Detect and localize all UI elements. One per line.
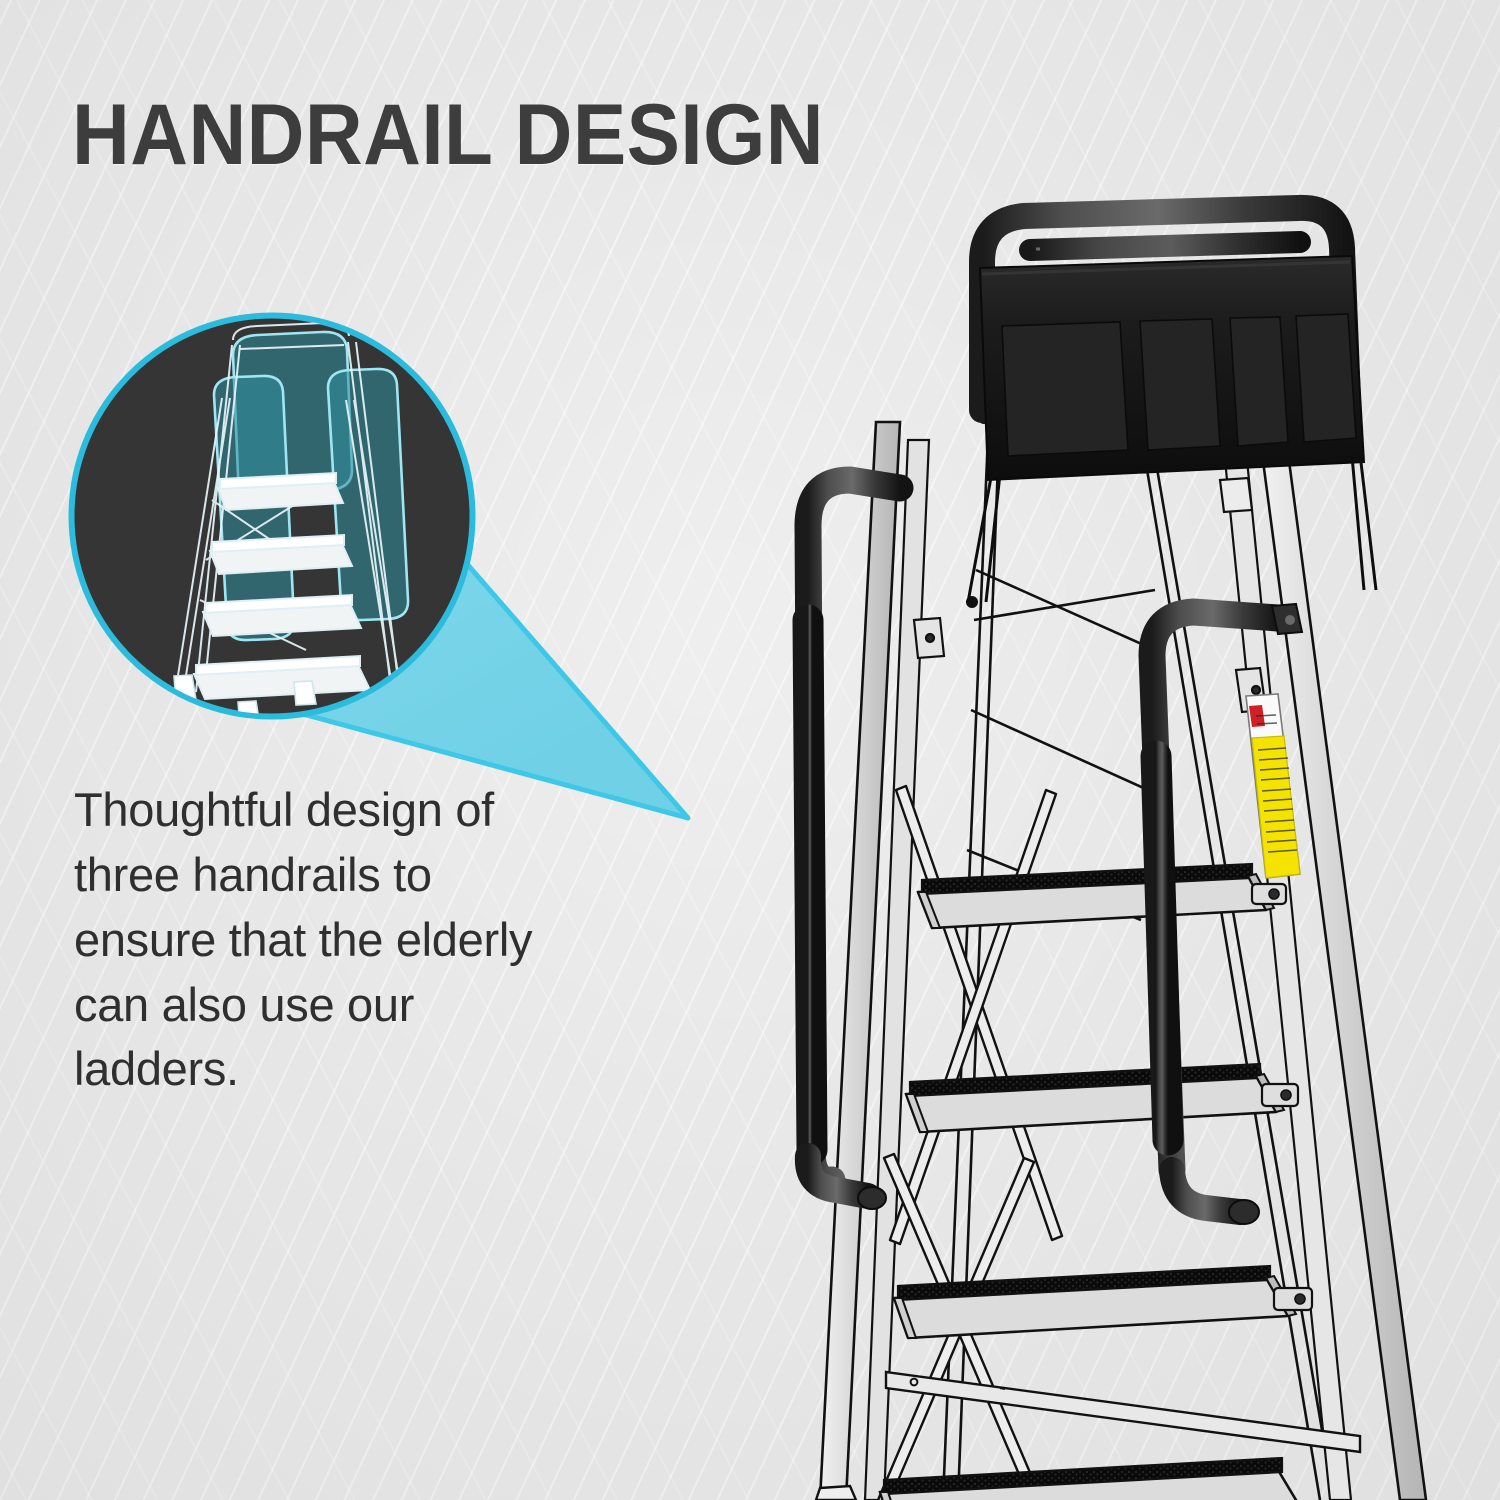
product-image-step-ladder: [700, 150, 1500, 1500]
part-label-right-handrail: Right handrail: [0, 0, 1, 1]
part-label-warning: Safety warning label: [0, 0, 1, 1]
part-label-top-handrail: Top handrail: [0, 0, 1, 1]
page-title: HANDRAIL DESIGN: [72, 92, 824, 178]
part-label-left-handrail: Left handrail: [0, 0, 1, 1]
infographic-canvas: HANDRAIL DESIGN Thoughtful design of thr…: [0, 0, 1500, 1500]
callout-ladder-wireframe: [174, 323, 408, 727]
callout-circle-body: [73, 317, 471, 715]
feature-description: Thoughtful design of three handrails to …: [74, 778, 564, 1102]
part-label-tool-pouch: Tool pouch organizer: [0, 0, 1, 1]
callout-circle-border: [72, 316, 473, 717]
warning-label-sticker: [1246, 694, 1300, 878]
callout-pointer-triangle: [214, 372, 688, 818]
